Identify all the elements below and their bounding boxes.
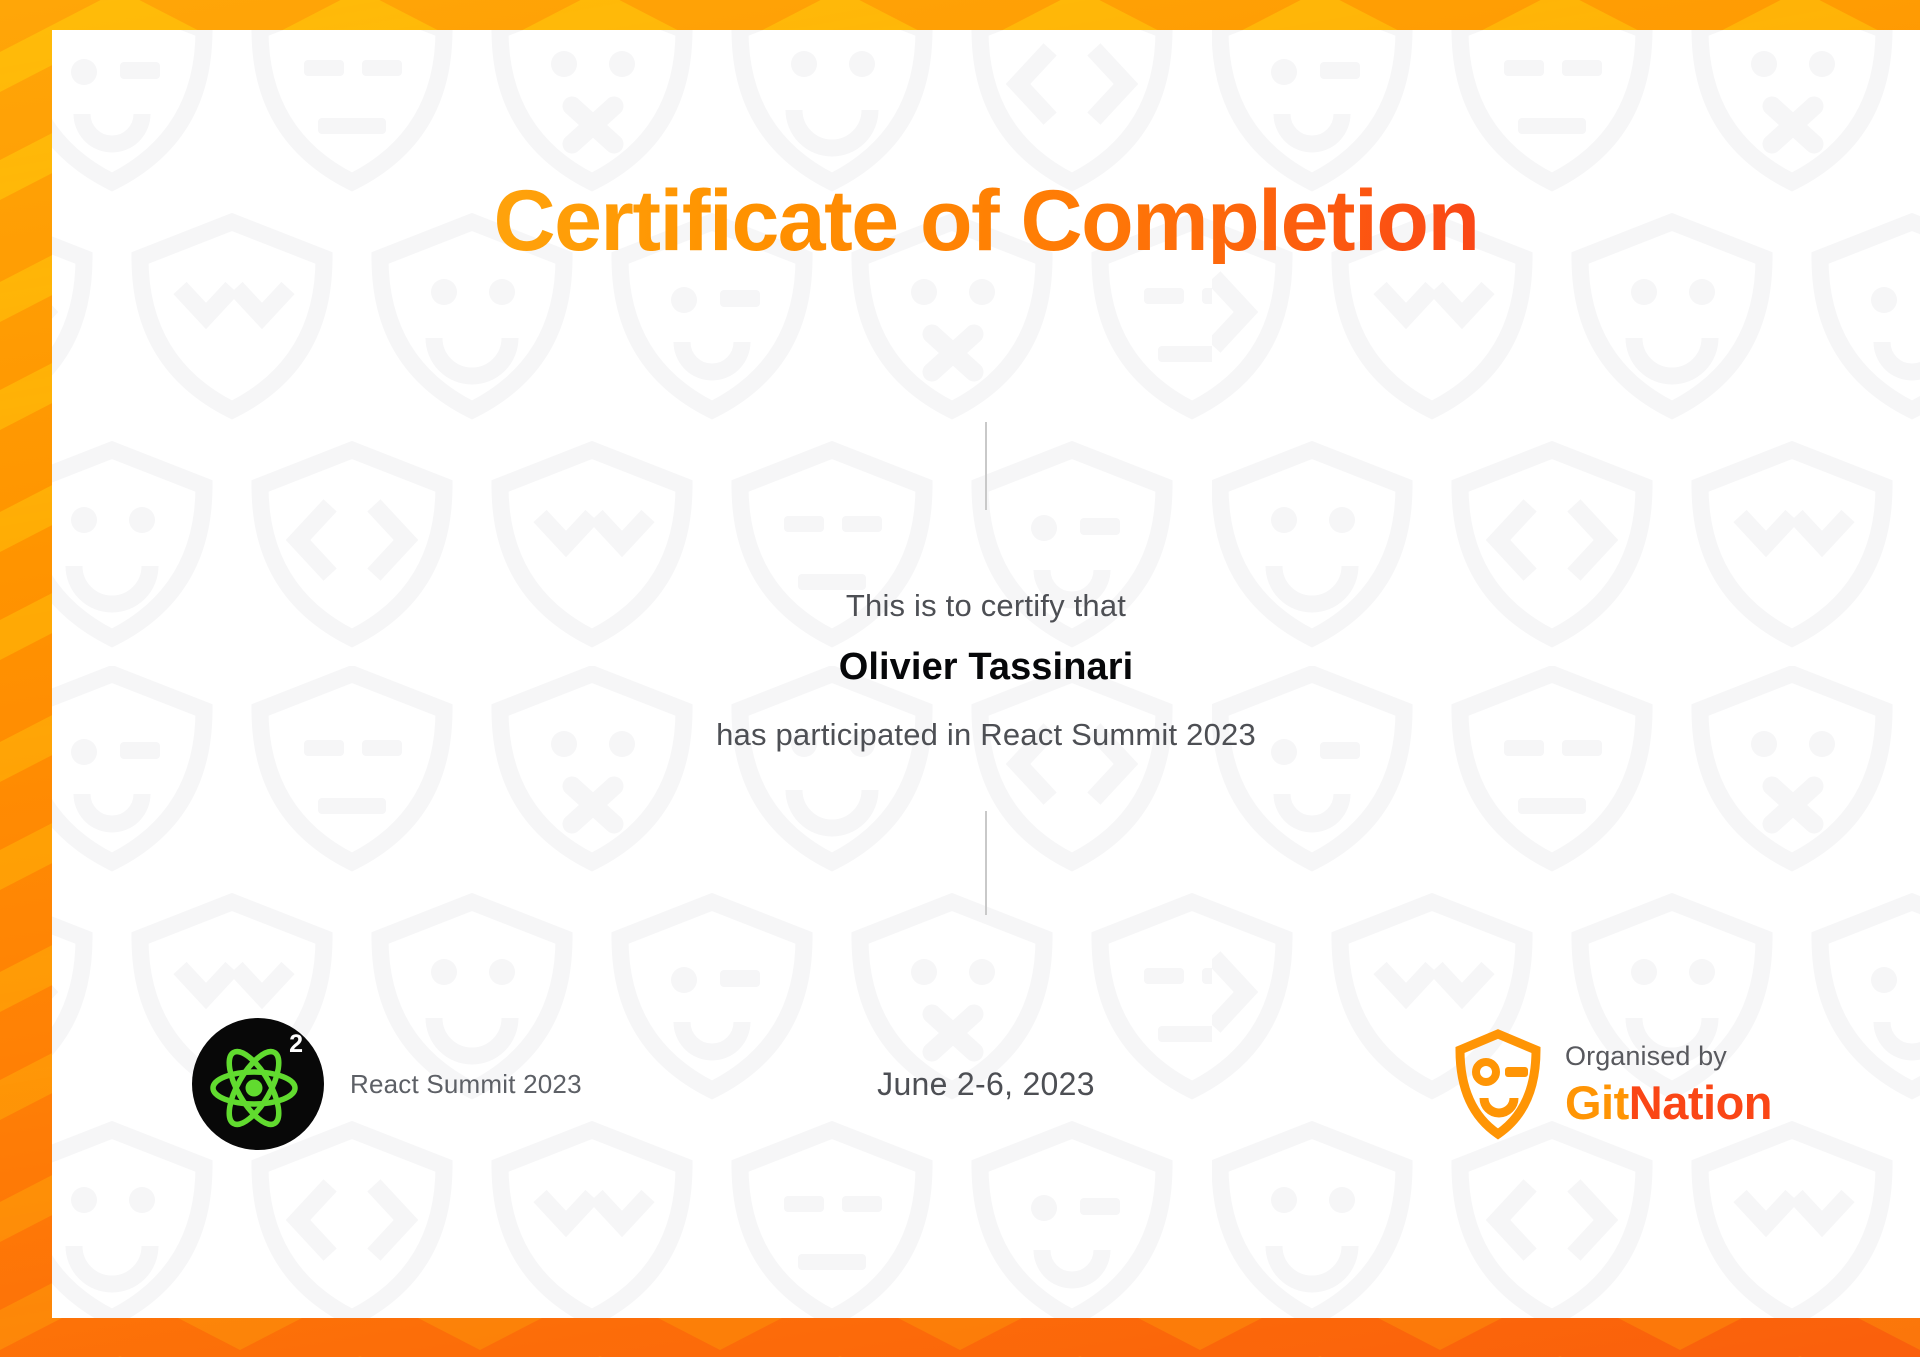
gitnation-word-nation: Nation [1629, 1076, 1772, 1129]
certificate-footer: 2 React Summit 2023 June 2-6, 2023 Organ… [52, 1018, 1920, 1150]
react-atom-icon [192, 1018, 324, 1150]
event-date: June 2-6, 2023 [877, 1066, 1095, 1103]
recipient-name: Olivier Tassinari [839, 646, 1134, 689]
gitnation-wordmark: GitNation [1565, 1079, 1772, 1126]
divider-bottom [985, 811, 987, 915]
event-branding: 2 React Summit 2023 [192, 1018, 582, 1150]
certificate-card: Certificate of Completion This is to cer… [52, 30, 1920, 1318]
gitnation-word-git: Git [1565, 1076, 1629, 1129]
certify-line: This is to certify that [846, 588, 1126, 624]
divider-top [985, 422, 987, 510]
page-title: Certificate of Completion [493, 178, 1478, 264]
react-summit-logo: 2 [192, 1018, 324, 1150]
organised-by-label: Organised by [1565, 1043, 1772, 1070]
organiser-branding: Organised by GitNation [1453, 1028, 1772, 1140]
logo-superscript: 2 [289, 1032, 303, 1057]
certificate: Certificate of Completion This is to cer… [0, 0, 1920, 1357]
event-name: React Summit 2023 [350, 1069, 582, 1100]
participation-line: has participated in React Summit 2023 [716, 717, 1256, 753]
gitnation-shield-mask-icon [1453, 1028, 1543, 1140]
gitnation-text-block: Organised by GitNation [1565, 1043, 1772, 1126]
